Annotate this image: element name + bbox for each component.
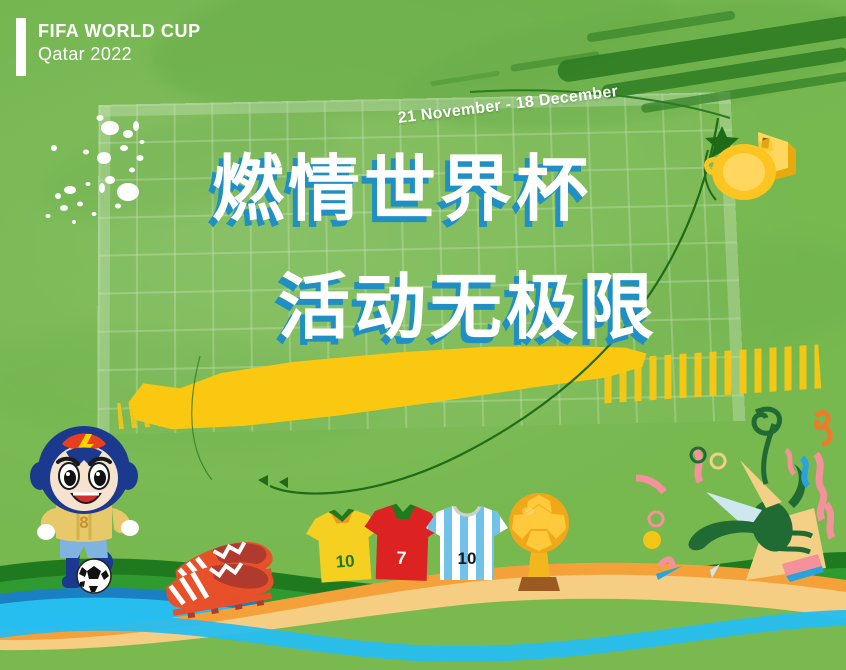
party-popper [636, 404, 846, 594]
jersey-number: 10 [458, 549, 477, 568]
mascot-character: 8 [22, 424, 154, 606]
jersey-number: 7 [396, 548, 407, 568]
paint-splatter [40, 96, 230, 236]
world-cup-trophy [498, 487, 580, 595]
mascot-hand-left [37, 524, 55, 540]
mascot-hand-right [121, 520, 139, 536]
popper-streamer [740, 460, 782, 508]
header-title: FIFA WORLD CUP [38, 20, 201, 43]
mascot-jersey-number: 8 [79, 513, 88, 532]
soccer-boots [158, 532, 298, 624]
header-text: FIFA WORLD CUP Qatar 2022 [38, 18, 201, 66]
world-cup-poster: FIFA WORLD CUP Qatar 2022 21 November - … [0, 0, 846, 670]
header: FIFA WORLD CUP Qatar 2022 [16, 18, 201, 76]
headline-line-1: 燃情世界杯 [212, 130, 592, 235]
popper-cone [745, 495, 826, 582]
header-accent-bar [16, 18, 26, 76]
referee-whistle [700, 120, 820, 220]
header-subtitle: Qatar 2022 [38, 43, 201, 66]
popper-streamer [689, 521, 762, 551]
soccer-boot-front [163, 556, 277, 621]
popper-streamer [754, 409, 780, 433]
jersey-number: 10 [335, 551, 355, 571]
trophy-base [518, 577, 560, 591]
headline-line-2: 活动无极限 [278, 248, 658, 353]
